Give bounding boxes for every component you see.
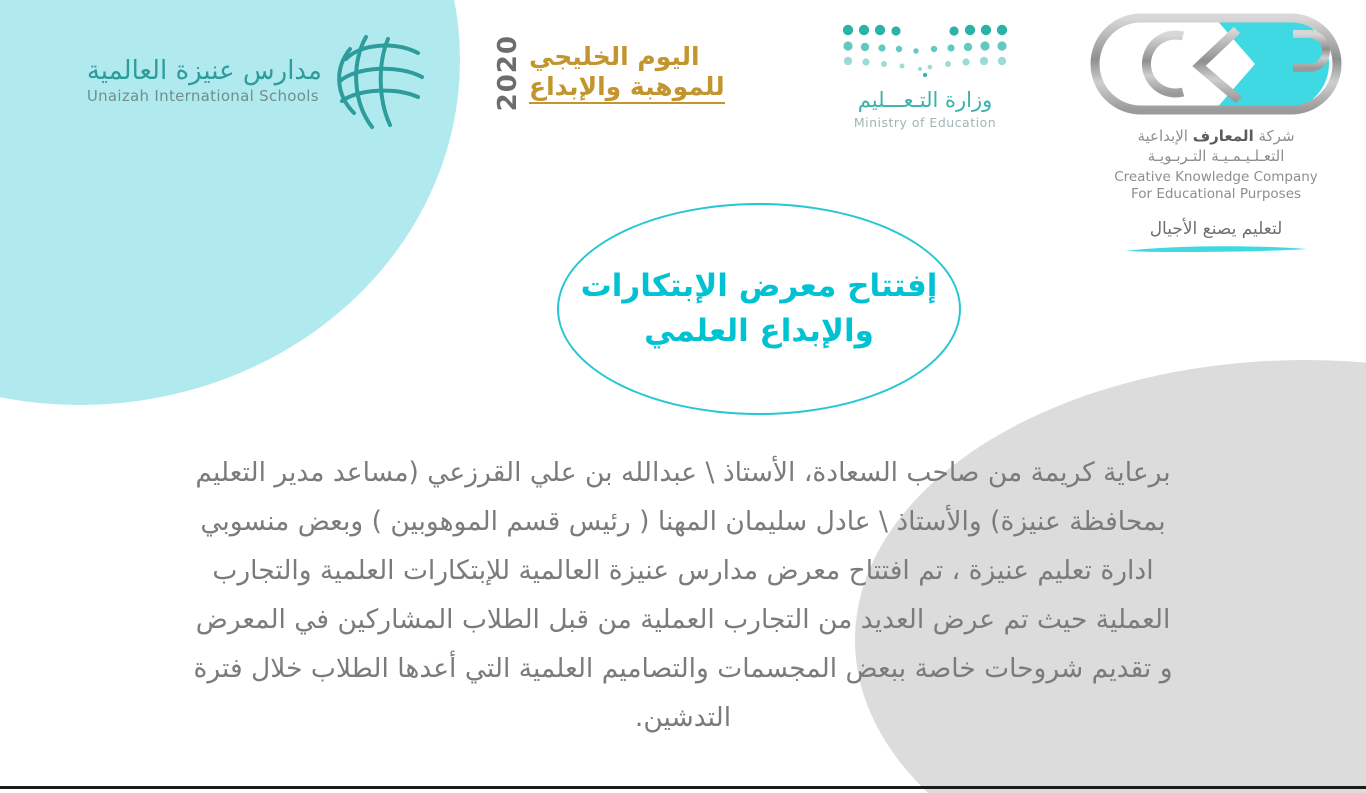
bottom-rule: [0, 786, 1366, 789]
ckep-arabic-line1: شركة المعارف الإبداعية: [1137, 127, 1294, 145]
ckep-arabic-line2: التعـلـيـمـيـة التـربـويـة: [1148, 147, 1285, 165]
moe-english-name: Ministry of Education: [854, 115, 996, 130]
ckep-underline-swoosh-icon: [1123, 244, 1309, 253]
logo-ministry-of-education: وزارة التـعـــليم Ministry of Education: [790, 22, 1060, 157]
presentation-slide: مدارس عنيزة العالمية Unaizah Internation…: [0, 0, 1366, 793]
moe-arabic-name: وزارة التـعـــليم: [858, 88, 993, 112]
gulf-talent-day-line2: للموهبة والإبداع: [529, 72, 725, 105]
dotted-palm-wings-icon: [840, 22, 1010, 80]
logo-unaizah-international-schools: مدارس عنيزة العالمية Unaizah Internation…: [28, 26, 428, 136]
globe-grid-icon: [332, 31, 428, 131]
body-line-2: بمحافظة عنيزة) والأستاذ \ عادل سليمان ال…: [60, 497, 1306, 546]
body-line-4: العملية حيث تم عرض العديد من التجارب الع…: [60, 595, 1306, 644]
uis-arabic-name: مدارس عنيزة العالمية: [87, 58, 322, 84]
title-line-1: إفتتاح معرض الإبتكارات: [581, 264, 938, 309]
title-line-2: والإبداع العلمي: [644, 309, 874, 354]
body-line-6: التدشين.: [60, 693, 1306, 742]
ckep-english-line1: Creative Knowledge Company: [1114, 169, 1318, 185]
ckep-ar1-suffix: الإبداعية: [1137, 127, 1192, 145]
ckep-ar1-bold: المعارف: [1193, 127, 1254, 145]
logo-gulf-talent-day: 2020 اليوم الخليجي للموهبة والإبداع: [495, 28, 735, 118]
gulf-talent-day-year: 2020: [495, 35, 521, 111]
ckep-tagline: لتعليم يصنع الأجيال: [1150, 219, 1283, 239]
logo-ckep: شركة المعارف الإبداعية التعـلـيـمـيـة ال…: [1085, 10, 1347, 275]
body-line-5: و تقديم شروحات خاصة ببعض المجسمات والتصا…: [60, 644, 1306, 693]
body-line-1: برعاية كريمة من صاحب السعادة، الأستاذ \ …: [60, 448, 1306, 497]
ckep-monogram-icon: [1087, 10, 1345, 118]
body-paragraph: برعاية كريمة من صاحب السعادة، الأستاذ \ …: [60, 448, 1306, 742]
ckep-ar1-prefix: شركة: [1254, 127, 1295, 145]
uis-english-name: Unaizah International Schools: [87, 89, 319, 104]
gulf-talent-day-line1: اليوم الخليجي: [529, 42, 700, 72]
title-oval: إفتتاح معرض الإبتكارات والإبداع العلمي: [557, 203, 961, 415]
body-line-3: ادارة تعليم عنيزة ، تم افتتاح معرض مدارس…: [60, 546, 1306, 595]
ckep-english-line2: For Educational Purposes: [1131, 186, 1301, 202]
